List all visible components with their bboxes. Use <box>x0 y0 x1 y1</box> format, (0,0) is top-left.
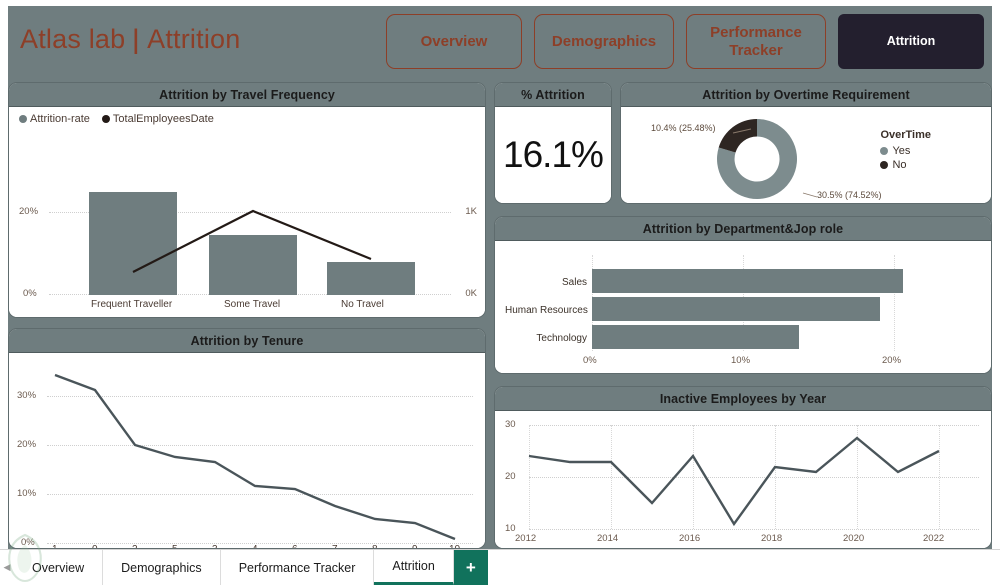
tab-scroll-left-icon[interactable]: ◀ <box>0 550 14 585</box>
chart-overtime-donut[interactable]: 10.4% (25.48%) 30.5% (74.52%) OverTime Y… <box>621 107 991 203</box>
dashboard-root: Atlas lab|Attrition Overview Demographic… <box>0 0 1000 585</box>
hbar-sales[interactable] <box>592 269 903 293</box>
hbar-technology[interactable] <box>592 325 799 349</box>
panel-title-year: Inactive Employees by Year <box>495 387 991 411</box>
kpi-card-body[interactable]: 16.1% <box>495 107 611 203</box>
donut-legend-title: OverTime <box>880 129 931 141</box>
brand-section: Attrition <box>147 24 240 54</box>
ytick-technology: Technology <box>505 333 587 344</box>
line-tenure <box>9 353 485 549</box>
donut-legend-label-no: No <box>892 159 906 171</box>
add-page-button[interactable]: + <box>454 550 488 585</box>
tab-overview[interactable]: Overview <box>14 550 103 585</box>
panel-title-travel: Attrition by Travel Frequency <box>9 83 485 107</box>
donut-legend-item-no[interactable]: No <box>880 159 931 171</box>
tab-performance-tracker[interactable]: Performance Tracker <box>221 550 375 585</box>
ytick-human-resources: Human Resources <box>505 305 587 316</box>
chart-attrition-tenure[interactable]: 30% 20% 10% 0% 1 0 2 5 3 4 6 7 8 9 10 <box>9 353 485 548</box>
panel-title-donut: Attrition by Overtime Requirement <box>621 83 991 107</box>
xtick-year-2014: 2014 <box>597 533 618 544</box>
brand-name: Atlas lab <box>20 24 125 54</box>
legend-swatch-icon <box>880 147 888 155</box>
panel-attrition-by-tenure: Attrition by Tenure 30% 20% 10% 0% 1 0 2… <box>8 328 486 549</box>
legend-swatch-icon <box>880 161 888 169</box>
panel-title-tenure: Attrition by Tenure <box>9 329 485 353</box>
kpi-value-attrition: 16.1% <box>495 134 611 176</box>
line-inactive-employees <box>495 411 991 541</box>
xtick-year-2012: 2012 <box>515 533 536 544</box>
panel-attrition-by-overtime: Attrition by Overtime Requirement <box>620 82 992 204</box>
donut-legend: OverTime Yes No <box>880 129 931 171</box>
brand-title: Atlas lab|Attrition <box>20 24 240 55</box>
donut-legend-item-yes[interactable]: Yes <box>880 145 931 157</box>
nav-button-demographics[interactable]: Demographics <box>534 14 674 69</box>
brand-separator: | <box>128 24 144 55</box>
xtick-year-2022: 2022 <box>923 533 944 544</box>
panel-title-kpi: % Attrition <box>495 83 611 107</box>
xtick-no-travel: No Travel <box>341 299 384 310</box>
page-tab-bar: ◀ Overview Demographics Performance Trac… <box>0 549 1000 585</box>
xtick-year-2016: 2016 <box>679 533 700 544</box>
ytick-sales: Sales <box>505 277 587 288</box>
report-page: Atlas lab|Attrition Overview Demographic… <box>0 0 1000 549</box>
xtick-frequent-traveller: Frequent Traveller <box>91 299 172 310</box>
xtick-year-2018: 2018 <box>761 533 782 544</box>
panel-attrition-by-travel-frequency: Attrition by Travel Frequency Attrition-… <box>8 82 486 318</box>
donut-legend-label-yes: Yes <box>892 145 910 157</box>
chart-travel-frequency[interactable]: Attrition-rate TotalEmployeesDate 20% 0%… <box>9 107 485 317</box>
xtick-dept-10: 10% <box>731 355 750 366</box>
xtick-dept-0: 0% <box>583 355 597 366</box>
chart-inactive-by-year[interactable]: 30 20 10 2012 2014 2016 2018 2020 2022 <box>495 411 991 548</box>
page-left-margin <box>0 0 8 549</box>
panel-title-dept: Attrition by Department&Jop role <box>495 217 991 241</box>
donut-callout-lines <box>621 107 991 204</box>
nav-button-attrition[interactable]: Attrition <box>838 14 984 69</box>
panel-percent-attrition: % Attrition 16.1% <box>494 82 612 204</box>
panel-attrition-by-department: Attrition by Department&Jop role Sales H… <box>494 216 992 374</box>
xtick-year-2020: 2020 <box>843 533 864 544</box>
nav-button-group: Overview Demographics Performance Tracke… <box>386 14 984 69</box>
page-right-margin <box>992 0 1000 549</box>
nav-button-overview[interactable]: Overview <box>386 14 522 69</box>
tab-attrition[interactable]: Attrition <box>374 550 453 585</box>
panel-inactive-employees-by-year: Inactive Employees by Year 30 20 10 2012 <box>494 386 992 549</box>
hbar-human-resources[interactable] <box>592 297 880 321</box>
dashboard-header: Atlas lab|Attrition Overview Demographic… <box>8 6 992 74</box>
line-total-employees <box>9 107 485 318</box>
donut-label-no: 10.4% (25.48%) <box>651 123 716 133</box>
tab-demographics[interactable]: Demographics <box>103 550 221 585</box>
donut-label-yes: 30.5% (74.52%) <box>817 190 882 200</box>
nav-button-performance-tracker[interactable]: Performance Tracker <box>686 14 826 69</box>
chart-department-jobrole[interactable]: Sales Human Resources Technology 0% 10% … <box>495 241 991 373</box>
xtick-some-travel: Some Travel <box>224 299 280 310</box>
xtick-dept-20: 20% <box>882 355 901 366</box>
